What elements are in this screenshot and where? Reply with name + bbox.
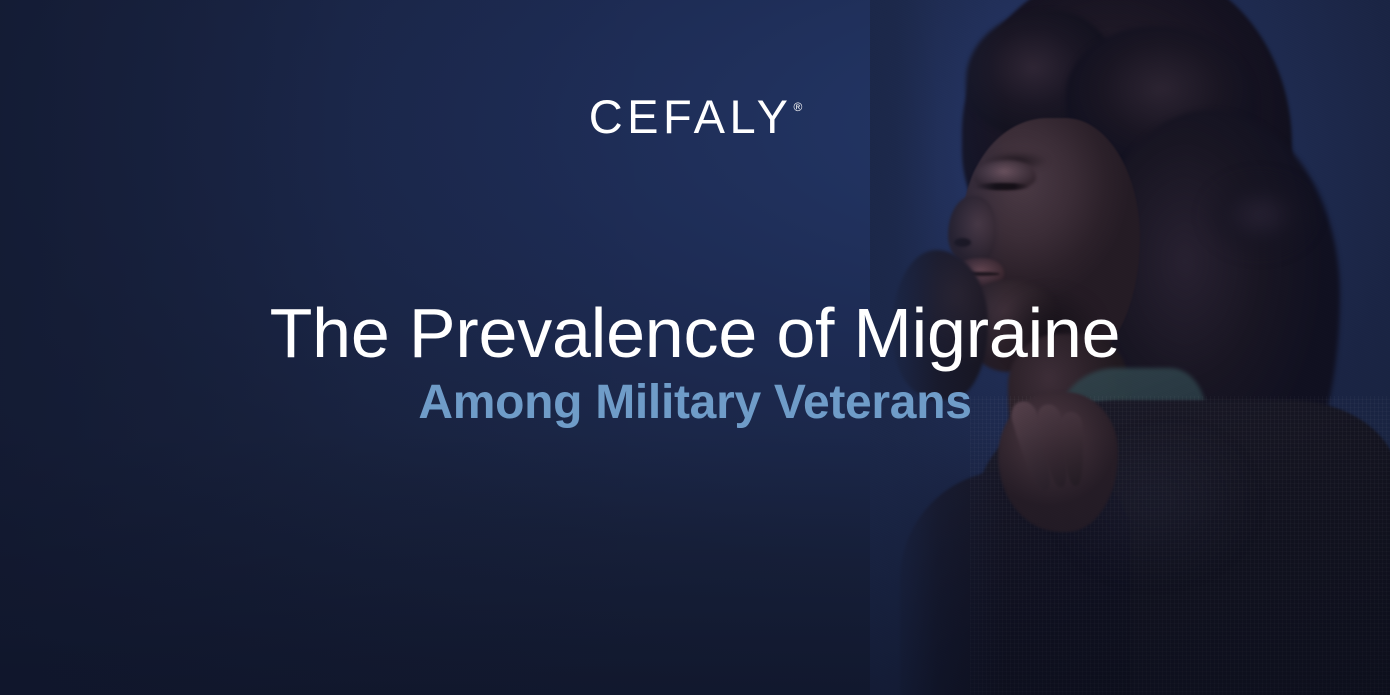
page-subtitle: Among Military Veterans <box>0 377 1390 429</box>
brand-name: CEFALY <box>589 90 793 143</box>
hero-banner: CEFALY® The Prevalence of Migraine Among… <box>0 0 1390 695</box>
page-title: The Prevalence of Migraine <box>0 296 1390 372</box>
cefaly-logo: CEFALY® <box>0 93 1390 140</box>
registered-trademark-icon: ® <box>793 100 802 114</box>
banner-content: CEFALY® The Prevalence of Migraine Among… <box>0 0 1390 695</box>
